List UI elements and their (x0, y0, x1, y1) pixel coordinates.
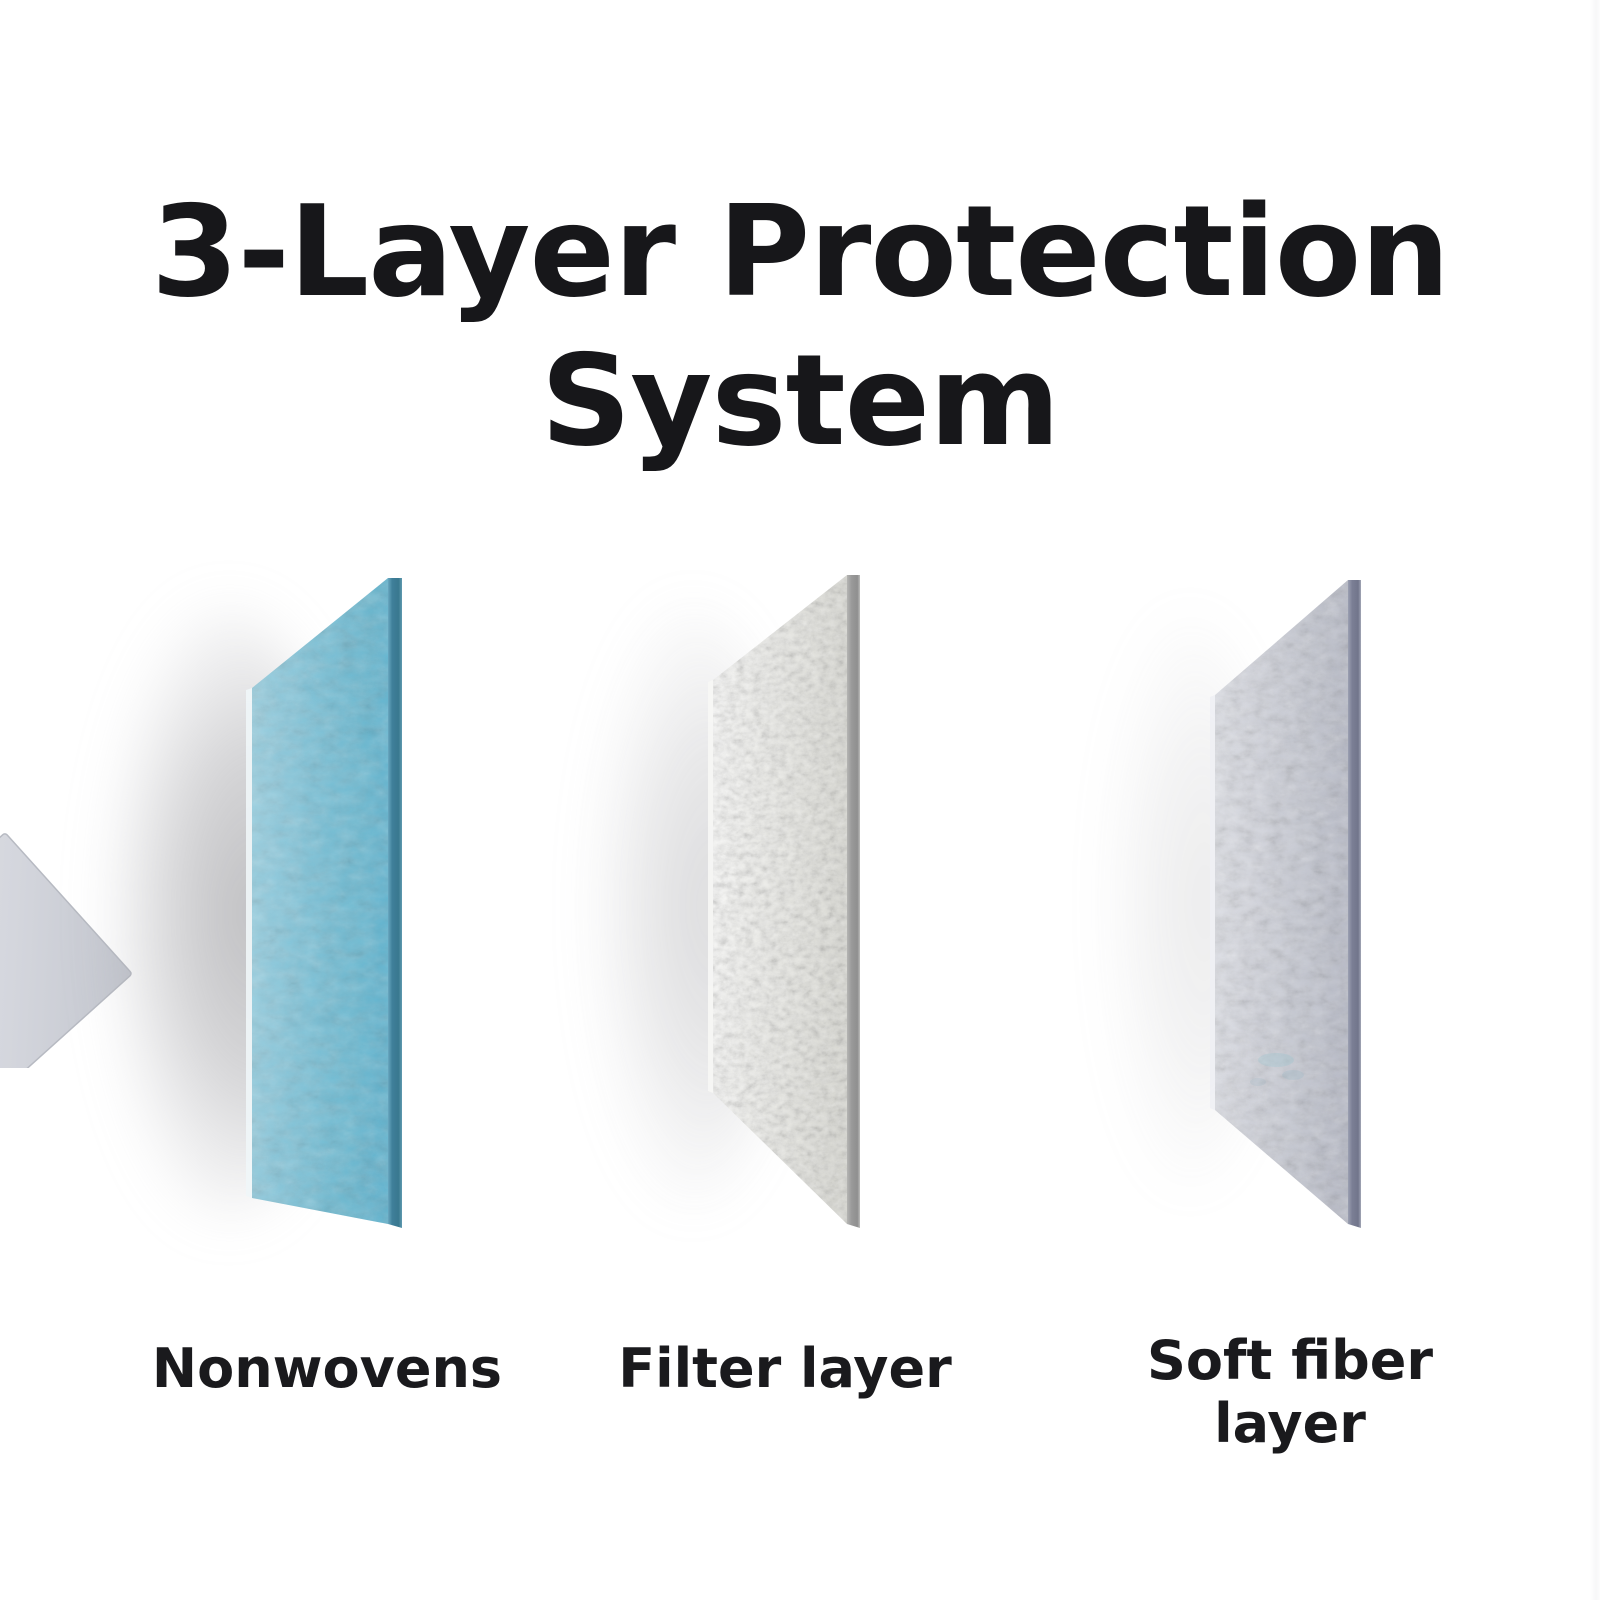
layer-label-filter-layer: Filter layer (570, 1338, 1000, 1401)
layer-label-soft-fiber-layer: Soft fiber layer (1080, 1330, 1500, 1455)
contaminated-fabric-fragment (0, 818, 152, 1068)
soft-fiber-layer-edge (1348, 580, 1361, 1228)
soft-fiber-layer-slab[interactable] (1198, 562, 1378, 1252)
page-title: 3-Layer Protection System (0, 178, 1600, 475)
filter-layer-slab[interactable] (695, 558, 875, 1248)
filter-layer-edge (847, 575, 860, 1228)
nonwovens-slab[interactable] (230, 560, 420, 1250)
illustration-canvas: 3-Layer Protection System (0, 0, 1600, 1600)
nonwovens-edge (388, 578, 402, 1228)
edge-band (1590, 0, 1600, 1600)
layer-label-nonwovens: Nonwovens (92, 1338, 562, 1401)
